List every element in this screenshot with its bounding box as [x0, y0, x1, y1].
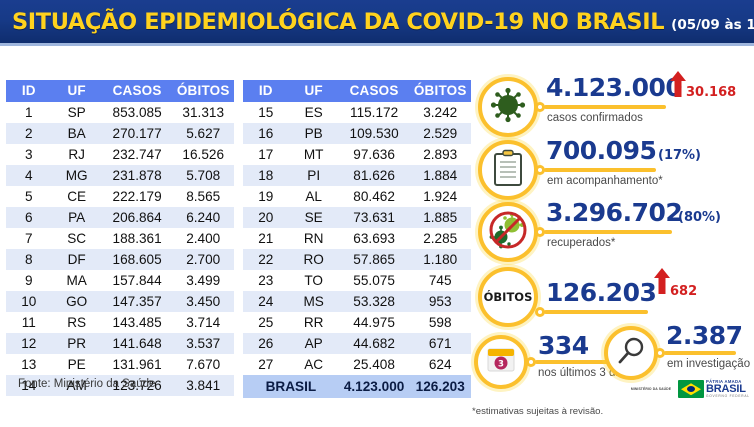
svg-text:3: 3	[498, 359, 504, 369]
virus-icon	[488, 85, 528, 130]
cell-obitos: 8.565	[172, 186, 234, 207]
cell-obitos: 3.537	[172, 333, 234, 354]
page-title: SITUAÇÃO EPIDEMIOLÓGICA DA COVID-19 NO B…	[12, 9, 664, 35]
cell-uf: MS	[289, 291, 339, 312]
cell-casos: 168.605	[102, 249, 173, 270]
cell-casos: 157.844	[102, 270, 173, 291]
cell-obitos: 6.240	[172, 207, 234, 228]
cell-casos: 53.328	[339, 291, 410, 312]
confirmed-ring	[478, 77, 538, 137]
deaths-ring: ÓBITOS	[478, 267, 538, 327]
cell-id: 1	[6, 102, 52, 123]
table-row: 11RS143.4853.714	[6, 312, 234, 333]
table-row: 27AC25.408624	[243, 354, 471, 375]
table-right-head: ID UF CASOS ÓBITOS	[243, 80, 471, 102]
cell-casos: 73.631	[339, 207, 410, 228]
table-row: 15ES115.1723.242	[243, 102, 471, 123]
cell-casos: 131.961	[102, 354, 173, 375]
investigation-value: 2.387	[666, 321, 743, 350]
cell-obitos: 2.700	[172, 249, 234, 270]
table-total-row: BRASIL4.123.000126.203	[243, 375, 471, 398]
cell-casos: 147.357	[102, 291, 173, 312]
cell-uf: MA	[52, 270, 102, 291]
column-header-id: ID	[243, 80, 289, 102]
cell-casos: 141.648	[102, 333, 173, 354]
cell-uf: RR	[289, 312, 339, 333]
cell-obitos: 671	[409, 333, 471, 354]
cell-obitos: 745	[409, 270, 471, 291]
cell-casos: 81.626	[339, 165, 410, 186]
cell-casos: 109.530	[339, 123, 410, 144]
states-table-left: ID UF CASOS ÓBITOS 1SP853.08531.3132BA27…	[6, 80, 234, 396]
column-header-casos: CASOS	[339, 80, 410, 102]
table-row: 4MG231.8785.708	[6, 165, 234, 186]
cell-uf: DF	[52, 249, 102, 270]
cell-id: 10	[6, 291, 52, 312]
cell-id: 11	[6, 312, 52, 333]
cell-obitos: 3.714	[172, 312, 234, 333]
page-header: SITUAÇÃO EPIDEMIOLÓGICA DA COVID-19 NO B…	[0, 0, 754, 46]
table-row: 6PA206.8646.240	[6, 207, 234, 228]
table-row: 25RR44.975598	[243, 312, 471, 333]
cell-obitos: 3.242	[409, 102, 471, 123]
cell-uf: AL	[289, 186, 339, 207]
cell-obitos: 1.884	[409, 165, 471, 186]
cell-id: 15	[243, 102, 289, 123]
monitoring-ring	[478, 140, 538, 200]
cell-id: 2	[6, 123, 52, 144]
table-row: 12PR141.6483.537	[6, 333, 234, 354]
cell-id: 27	[243, 354, 289, 375]
cell-id: 3	[6, 144, 52, 165]
cell-obitos: 3.450	[172, 291, 234, 312]
table-left-body: 1SP853.08531.3132BA270.1775.6273RJ232.74…	[6, 102, 234, 396]
total-obitos: 126.203	[409, 375, 471, 398]
no-virus-icon	[487, 209, 529, 256]
table-header-row: ID UF CASOS ÓBITOS	[243, 80, 471, 102]
monitoring-percent: (17%)	[658, 148, 701, 163]
last-days-ring: 3	[474, 335, 528, 389]
cell-uf: CE	[52, 186, 102, 207]
table-left: ID UF CASOS ÓBITOS 1SP853.08531.3132BA27…	[6, 80, 234, 396]
brasil-government-logo: PÁTRIA AMADA BRASIL GOVERNO FEDERAL	[678, 380, 750, 398]
monitoring-connector	[544, 168, 656, 172]
cell-id: 9	[6, 270, 52, 291]
cell-casos: 853.085	[102, 102, 173, 123]
cell-uf: RJ	[52, 144, 102, 165]
cell-casos: 44.975	[339, 312, 410, 333]
cell-obitos: 5.708	[172, 165, 234, 186]
cell-casos: 231.878	[102, 165, 173, 186]
cell-id: 5	[6, 186, 52, 207]
cell-casos: 55.075	[339, 270, 410, 291]
table-left-head: ID UF CASOS ÓBITOS	[6, 80, 234, 102]
table-row: 21RN63.6932.285	[243, 228, 471, 249]
cell-id: 23	[243, 270, 289, 291]
column-header-uf: UF	[52, 80, 102, 102]
cell-casos: 80.462	[339, 186, 410, 207]
table-row: 26AP44.682671	[243, 333, 471, 354]
recovered-caption: recuperados*	[547, 237, 615, 249]
states-table-right: ID UF CASOS ÓBITOS 15ES115.1723.24216PB1…	[243, 80, 471, 398]
cell-casos: 143.485	[102, 312, 173, 333]
confirmed-caption: casos confirmados	[547, 112, 643, 124]
recovered-ring	[478, 202, 538, 262]
table-header-row: ID UF CASOS ÓBITOS	[6, 80, 234, 102]
cell-casos: 44.682	[339, 333, 410, 354]
table-row: 2BA270.1775.627	[6, 123, 234, 144]
summary-stats-panel: 4.123.000 casos confirmados 30.168	[472, 52, 754, 427]
table-row: 8DF168.6052.700	[6, 249, 234, 270]
cell-id: 4	[6, 165, 52, 186]
cell-uf: SE	[289, 207, 339, 228]
cell-obitos: 624	[409, 354, 471, 375]
cell-obitos: 16.526	[172, 144, 234, 165]
cell-obitos: 598	[409, 312, 471, 333]
cell-casos: 188.361	[102, 228, 173, 249]
cell-uf: PR	[52, 333, 102, 354]
ministry-of-health-logo: MINISTÉRIO DA SAÚDE	[630, 387, 672, 392]
cell-obitos: 2.529	[409, 123, 471, 144]
clipboard-icon	[493, 149, 523, 192]
cell-casos: 232.747	[102, 144, 173, 165]
cell-casos: 206.864	[102, 207, 173, 228]
cell-id: 8	[6, 249, 52, 270]
column-header-id: ID	[6, 80, 52, 102]
investigation-ring	[604, 326, 658, 380]
cell-uf: ES	[289, 102, 339, 123]
table-right: ID UF CASOS ÓBITOS 15ES115.1723.24216PB1…	[243, 80, 471, 398]
investigation-connector	[664, 351, 736, 355]
cell-obitos: 1.924	[409, 186, 471, 207]
cell-casos: 97.636	[339, 144, 410, 165]
cell-uf: MT	[289, 144, 339, 165]
cell-uf: SP	[52, 102, 102, 123]
cell-uf: RO	[289, 249, 339, 270]
column-header-obitos: ÓBITOS	[172, 80, 234, 102]
cell-uf: PA	[52, 207, 102, 228]
brazil-flag-icon	[678, 380, 704, 398]
cell-id: 6	[6, 207, 52, 228]
table-row: 22RO57.8651.180	[243, 249, 471, 270]
cell-obitos: 953	[409, 291, 471, 312]
increase-arrow-icon	[670, 71, 686, 102]
recovered-connector	[544, 230, 672, 234]
table-row: 1SP853.08531.313	[6, 102, 234, 123]
cell-id: 26	[243, 333, 289, 354]
cell-id: 17	[243, 144, 289, 165]
cell-id: 22	[243, 249, 289, 270]
cell-id: 21	[243, 228, 289, 249]
table-row: 10GO147.3573.450	[6, 291, 234, 312]
calendar-icon: 3	[486, 346, 516, 379]
total-label: BRASIL	[243, 375, 339, 398]
table-row: 23TO55.075745	[243, 270, 471, 291]
cell-casos: 63.693	[339, 228, 410, 249]
table-row: 17MT97.6362.893	[243, 144, 471, 165]
table-row: 3RJ232.74716.526	[6, 144, 234, 165]
table-row: 7SC188.3612.400	[6, 228, 234, 249]
cell-obitos: 7.670	[172, 354, 234, 375]
cell-id: 7	[6, 228, 52, 249]
cell-uf: AC	[289, 354, 339, 375]
cell-casos: 25.408	[339, 354, 410, 375]
source-label: Fonte: Ministério da Saúde	[18, 378, 155, 390]
deaths-delta: 682	[670, 284, 697, 299]
cell-obitos: 1.885	[409, 207, 471, 228]
cell-id: 18	[243, 165, 289, 186]
table-row: 5CE222.1798.565	[6, 186, 234, 207]
monitoring-caption: em acompanhamento*	[547, 175, 663, 187]
cell-uf: RN	[289, 228, 339, 249]
recovered-percent: (80%)	[678, 210, 721, 225]
cell-id: 24	[243, 291, 289, 312]
last-days-value: 334	[538, 331, 589, 360]
cell-uf: TO	[289, 270, 339, 291]
cell-uf: MG	[52, 165, 102, 186]
cell-casos: 57.865	[339, 249, 410, 270]
cell-obitos: 3.841	[172, 375, 234, 396]
table-right-body: 15ES115.1723.24216PB109.5302.52917MT97.6…	[243, 102, 471, 398]
cell-uf: GO	[52, 291, 102, 312]
header-inner: SITUAÇÃO EPIDEMIOLÓGICA DA COVID-19 NO B…	[0, 9, 754, 35]
cell-obitos: 2.893	[409, 144, 471, 165]
cell-obitos: 3.499	[172, 270, 234, 291]
cell-uf: AP	[289, 333, 339, 354]
total-casos: 4.123.000	[339, 375, 410, 398]
brasil-logo-bot: GOVERNO FEDERAL	[706, 395, 750, 398]
cell-obitos: 5.627	[172, 123, 234, 144]
deaths-value: 126.203	[546, 278, 656, 307]
table-row: 20SE73.6311.885	[243, 207, 471, 228]
cell-obitos: 31.313	[172, 102, 234, 123]
magnifier-icon	[616, 336, 646, 371]
government-logos: MINISTÉRIO DA SAÚDE PÁTRIA AMADA BRASIL …	[630, 380, 750, 398]
table-row: 9MA157.8443.499	[6, 270, 234, 291]
cell-casos: 270.177	[102, 123, 173, 144]
deaths-increase-arrow-icon	[654, 268, 670, 299]
cell-uf: SC	[52, 228, 102, 249]
cell-casos: 115.172	[339, 102, 410, 123]
disclaimer-note: *estimativas sujeitas à revisão.	[472, 406, 603, 417]
table-row: 24MS53.328953	[243, 291, 471, 312]
table-row: 19AL80.4621.924	[243, 186, 471, 207]
cell-uf: PE	[52, 354, 102, 375]
column-header-casos: CASOS	[102, 80, 173, 102]
investigation-caption: em investigação	[667, 358, 750, 370]
header-timestamp: (05/09 às 19:00h)	[671, 17, 754, 33]
deaths-connector	[544, 310, 648, 314]
recovered-value: 3.296.702	[546, 198, 682, 227]
confirmed-value: 4.123.000	[546, 73, 682, 102]
cell-obitos: 2.285	[409, 228, 471, 249]
cell-id: 20	[243, 207, 289, 228]
obitos-badge-icon: ÓBITOS	[484, 290, 533, 304]
monitoring-value: 700.095	[546, 136, 656, 165]
cell-id: 16	[243, 123, 289, 144]
cell-id: 13	[6, 354, 52, 375]
brasil-logo-text: PÁTRIA AMADA BRASIL GOVERNO FEDERAL	[706, 380, 750, 398]
cell-id: 25	[243, 312, 289, 333]
table-row: 16PB109.5302.529	[243, 123, 471, 144]
last-days-connector	[535, 360, 609, 364]
cell-id: 12	[6, 333, 52, 354]
cell-obitos: 1.180	[409, 249, 471, 270]
table-row: 13PE131.9617.670	[6, 354, 234, 375]
cell-uf: PI	[289, 165, 339, 186]
confirmed-delta: 30.168	[686, 85, 736, 100]
table-row: 18PI81.6261.884	[243, 165, 471, 186]
confirmed-connector	[544, 105, 666, 109]
column-header-obitos: ÓBITOS	[409, 80, 471, 102]
column-header-uf: UF	[289, 80, 339, 102]
cell-obitos: 2.400	[172, 228, 234, 249]
cell-id: 19	[243, 186, 289, 207]
cell-uf: BA	[52, 123, 102, 144]
cell-uf: PB	[289, 123, 339, 144]
cell-casos: 222.179	[102, 186, 173, 207]
cell-uf: RS	[52, 312, 102, 333]
